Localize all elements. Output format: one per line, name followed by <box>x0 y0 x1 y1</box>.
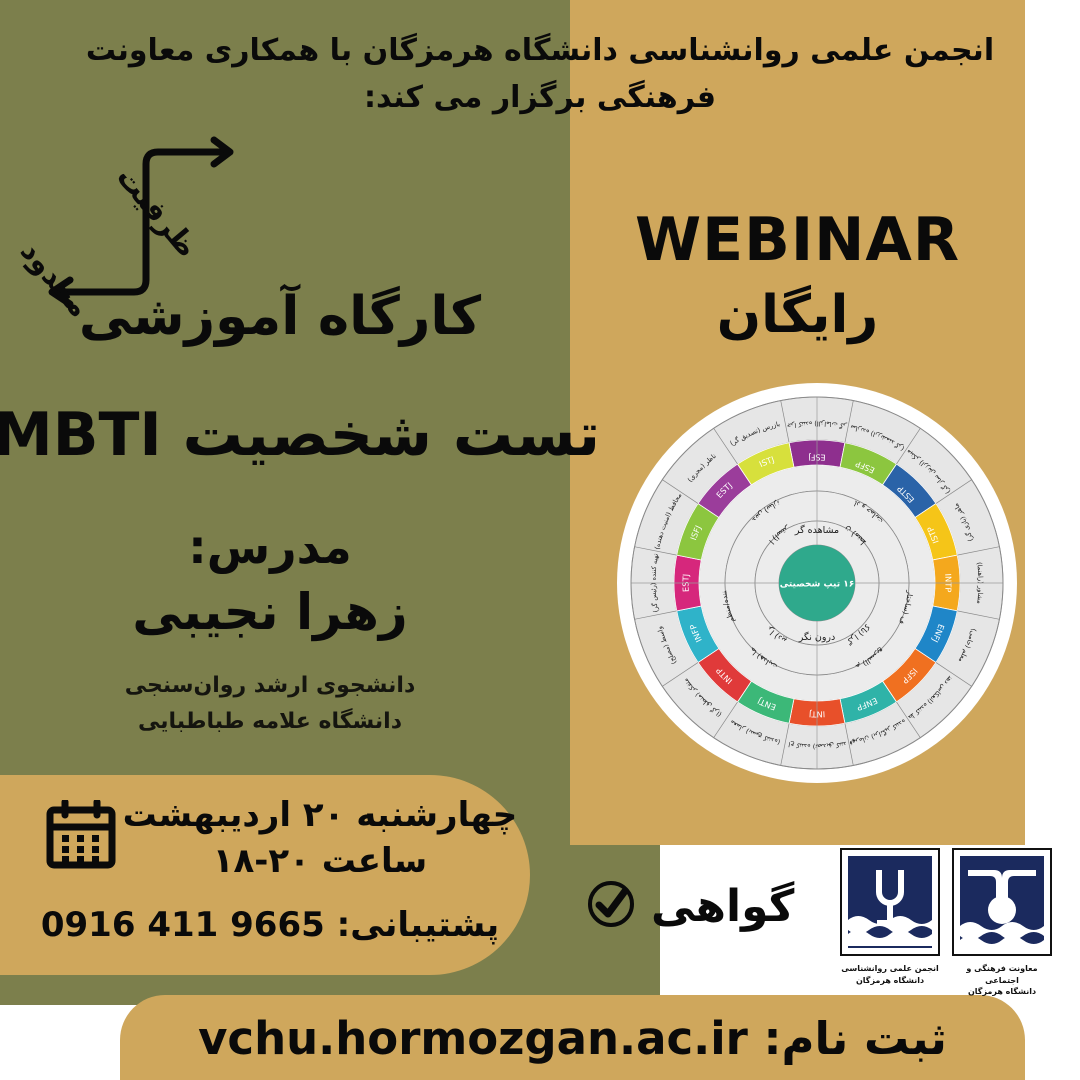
event-date-time: چهارشنبه ۲۰ اردیبهشت ساعت ۲۰-۱۸ <box>120 793 520 885</box>
event-time: ساعت ۲۰-۱۸ <box>120 839 520 885</box>
psychology-association-logo: انجمن علمی روانشناسی دانشگاه هرمزگان <box>840 848 940 986</box>
svg-text:۱۶ تیپ شخصیتی: ۱۶ تیپ شخصیتی <box>780 580 855 590</box>
cultural-social-deputy-caption: معاونت فرهنگی و اجتماعی دانشگاه هرمزگان <box>952 963 1052 998</box>
workshop-title: کارگاه آموزشی <box>0 286 560 347</box>
cultural-social-deputy-logo: معاونت فرهنگی و اجتماعی دانشگاه هرمزگان <box>952 848 1052 998</box>
instructor-credential-line-2: دانشگاه علامه طباطبایی <box>0 704 540 740</box>
instructor-credential-line-1: دانشجوی ارشد روان‌سنجی <box>0 668 540 704</box>
registration-label: ثبت نام: <box>764 1012 947 1065</box>
certificate-row: گواهی <box>585 878 794 934</box>
poster-root: انجمن علمی روانشناسی دانشگاه هرمزگان با … <box>0 0 1080 1080</box>
header-text: انجمن علمی روانشناسی دانشگاه هرمزگان با … <box>60 28 1020 121</box>
logo-caption-line-1: انجمن علمی روانشناسی <box>840 963 940 975</box>
instructor-name: زهرا نجیبی <box>0 583 540 641</box>
certificate-label: گواهی <box>651 881 794 932</box>
svg-text:درون نگر: درون نگر <box>798 631 836 643</box>
calendar-icon <box>45 800 117 870</box>
logo-caption-line-2: دانشگاه هرمزگان <box>952 986 1052 998</box>
webinar-free-label: رایگان <box>570 285 1025 345</box>
organization-logos: انجمن علمی روانشناسی دانشگاه هرمزگان معا… <box>840 848 1070 998</box>
mbti-test-title: تست شخصیت MBTI <box>0 400 600 470</box>
instructor-label: مدرس: <box>0 520 540 574</box>
logo-caption-line-2: دانشگاه هرمزگان <box>840 975 940 987</box>
registration-line[interactable]: ثبت نام: vchu.hormozgan.ac.ir <box>120 1012 1025 1065</box>
event-date: چهارشنبه ۲۰ اردیبهشت <box>120 793 520 839</box>
header-line-2: فرهنگی برگزار می کند: <box>60 75 1020 122</box>
check-circle-icon <box>585 878 637 934</box>
mbti-wheel-diagram: اجرا کننده (الزامات گر)ESFJسازنده (ارزشم… <box>627 393 1007 773</box>
psychology-association-caption: انجمن علمی روانشناسی دانشگاه هرمزگان <box>840 963 940 986</box>
instructor-credentials: دانشجوی ارشد روان‌سنجی دانشگاه علامه طبا… <box>0 668 540 741</box>
registration-url[interactable]: vchu.hormozgan.ac.ir <box>198 1012 748 1065</box>
support-phone-number[interactable]: 0916 411 9665 <box>41 905 325 945</box>
support-label: پشتیبانی: <box>337 905 500 945</box>
logo-caption-line-1: معاونت فرهنگی و اجتماعی <box>952 963 1052 986</box>
webinar-english-label: WEBINAR <box>570 205 1025 275</box>
support-contact: پشتیبانی: 0916 411 9665 <box>20 905 520 945</box>
svg-text:مشاهده گر: مشاهده گر <box>794 524 839 536</box>
header-line-1: انجمن علمی روانشناسی دانشگاه هرمزگان با … <box>60 28 1020 75</box>
